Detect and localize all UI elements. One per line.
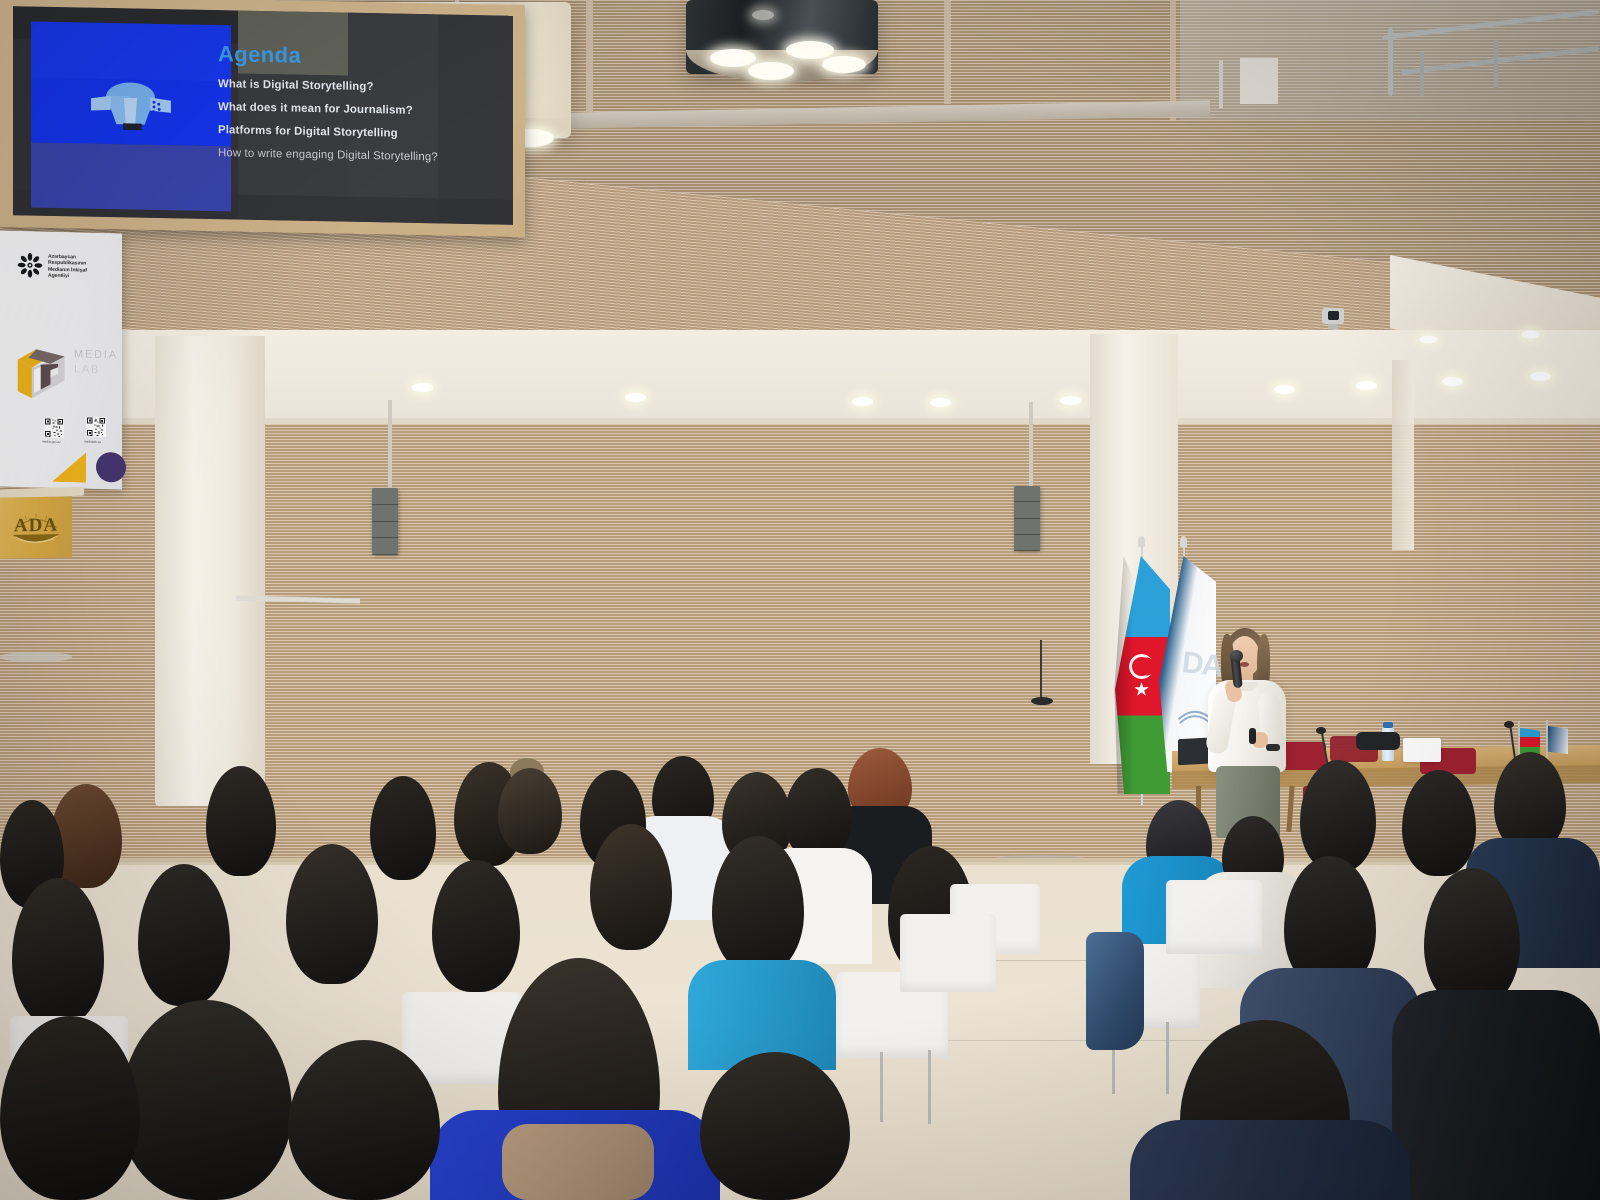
podium-gooseneck-mic: [1040, 640, 1042, 702]
downlight: [852, 397, 873, 406]
pendant-chrome-bulb: [752, 10, 774, 20]
pendant-chrome-bulb: [710, 49, 756, 67]
agency-line-4: Agentliyi: [48, 272, 114, 280]
qr-code-icon[interactable]: [86, 417, 106, 437]
banner-agency-text: Azərbaycan Respublikasının Medianın İnki…: [48, 254, 114, 281]
auditorium-photo: Agenda What is Digital Storytelling? Wha…: [0, 0, 1600, 1200]
ptz-camera-lens-icon: [1328, 311, 1339, 320]
slide-graphic-panel-highlight: [31, 21, 231, 81]
slide-bullet-1: What is Digital Storytelling?: [218, 79, 498, 96]
downlight: [625, 393, 646, 402]
chair-leg: [1166, 1022, 1169, 1094]
audience-head: [1494, 752, 1566, 852]
speaker-hanger-rod-right: [1029, 402, 1033, 488]
column-left: [155, 336, 265, 806]
tissue-box: [1403, 738, 1441, 762]
wall-conduit: [1219, 60, 1223, 108]
audience-head: [498, 768, 562, 854]
flagpole-finial-azerbaijan: [1138, 536, 1145, 547]
draped-jacket: [502, 1124, 654, 1200]
slide-graphic-panel-shadow: [31, 142, 231, 211]
presentation-screen[interactable]: Agenda What is Digital Storytelling? Wha…: [13, 6, 513, 225]
wall-mullion: [586, 0, 593, 112]
downlight: [1442, 377, 1463, 386]
line-array-speaker-left[interactable]: [372, 488, 398, 554]
microphone-head-icon: [1230, 650, 1243, 662]
audience-chair[interactable]: [1166, 880, 1262, 954]
flagpole-finial-ada: [1180, 536, 1187, 547]
table-microphone-head-icon: [1316, 727, 1326, 734]
slide-title: Agenda: [218, 44, 498, 71]
water-bottle-cap-icon: [1383, 722, 1393, 728]
audience-head: [784, 768, 852, 860]
audience-chair[interactable]: [900, 914, 996, 992]
column-right: [1392, 360, 1414, 550]
ada-table-flag: [1548, 726, 1568, 754]
banner-decor-yellow-triangle: [52, 452, 86, 483]
audience-body: [1392, 990, 1600, 1200]
downlight: [1060, 396, 1081, 405]
denim-jacket-on-chair: [1086, 932, 1144, 1050]
balustrade-post: [1420, 52, 1424, 96]
media-lab-cube-logo-icon: [12, 339, 78, 401]
folded-jacket-on-table: [1356, 732, 1400, 750]
presenter-mouth: [1240, 662, 1249, 667]
downlight: [1420, 336, 1438, 344]
speaker-hanger-rod-left: [388, 400, 392, 492]
qr-code-icon[interactable]: [44, 418, 64, 438]
downlight: [1522, 331, 1540, 339]
media-lab-wordmark-secondary: LAB: [74, 363, 100, 376]
slide-text-block: Agenda What is Digital Storytelling? Wha…: [218, 44, 498, 176]
podium-crest-bowl-icon: [10, 533, 62, 550]
agency-rosette-logo-icon: [16, 251, 44, 280]
downlight: [1356, 381, 1377, 390]
wall-access-panel: [1240, 58, 1278, 104]
downlight: [930, 398, 951, 407]
presenter-wristwatch: [1266, 744, 1280, 751]
slide-bullet-3: Platforms for Digital Storytelling: [218, 125, 498, 142]
handrail-return: [1388, 28, 1393, 96]
wall-mullion: [944, 0, 951, 104]
pendant-chrome-bulb: [748, 62, 794, 80]
balustrade-post: [1494, 40, 1498, 88]
banner-decor-purple-circle: [96, 452, 126, 483]
media-lab-wordmark-primary: MEDIA: [74, 348, 118, 361]
downlight: [412, 383, 433, 392]
line-array-speaker-right[interactable]: [1014, 486, 1040, 550]
slide-bullet-2: What does it mean for Journalism?: [218, 102, 498, 119]
qr-label-1: media.gov.az: [42, 440, 61, 444]
audience-body: [1130, 1120, 1410, 1200]
podium-mic-head-icon: [1031, 697, 1053, 705]
slide-graphic-emblem-icon: [53, 74, 208, 133]
table-microphone-head-icon: [1504, 721, 1514, 728]
podium-base: [0, 652, 72, 662]
pendant-chrome-bulb: [822, 56, 866, 73]
slide-bullet-4: How to write engaging Digital Storytelli…: [218, 148, 498, 165]
qr-label-2: medialab.az: [84, 440, 101, 444]
media-lab-rollup-banner: Azərbaycan Respublikasının Medianın İnki…: [0, 231, 122, 490]
presenter: [1196, 628, 1296, 838]
presentation-clicker[interactable]: [1249, 728, 1256, 744]
presentation-screen-frame: Agenda What is Digital Storytelling? Wha…: [0, 0, 525, 237]
chair-leg: [880, 1052, 883, 1122]
downlight: [1530, 372, 1551, 381]
pendant-chrome-bulb: [786, 41, 834, 59]
downlight: [1274, 385, 1295, 394]
podium-front-panel: ADA: [0, 496, 72, 558]
chair-leg: [928, 1050, 931, 1124]
ptz-camera-mount: [1328, 324, 1338, 329]
